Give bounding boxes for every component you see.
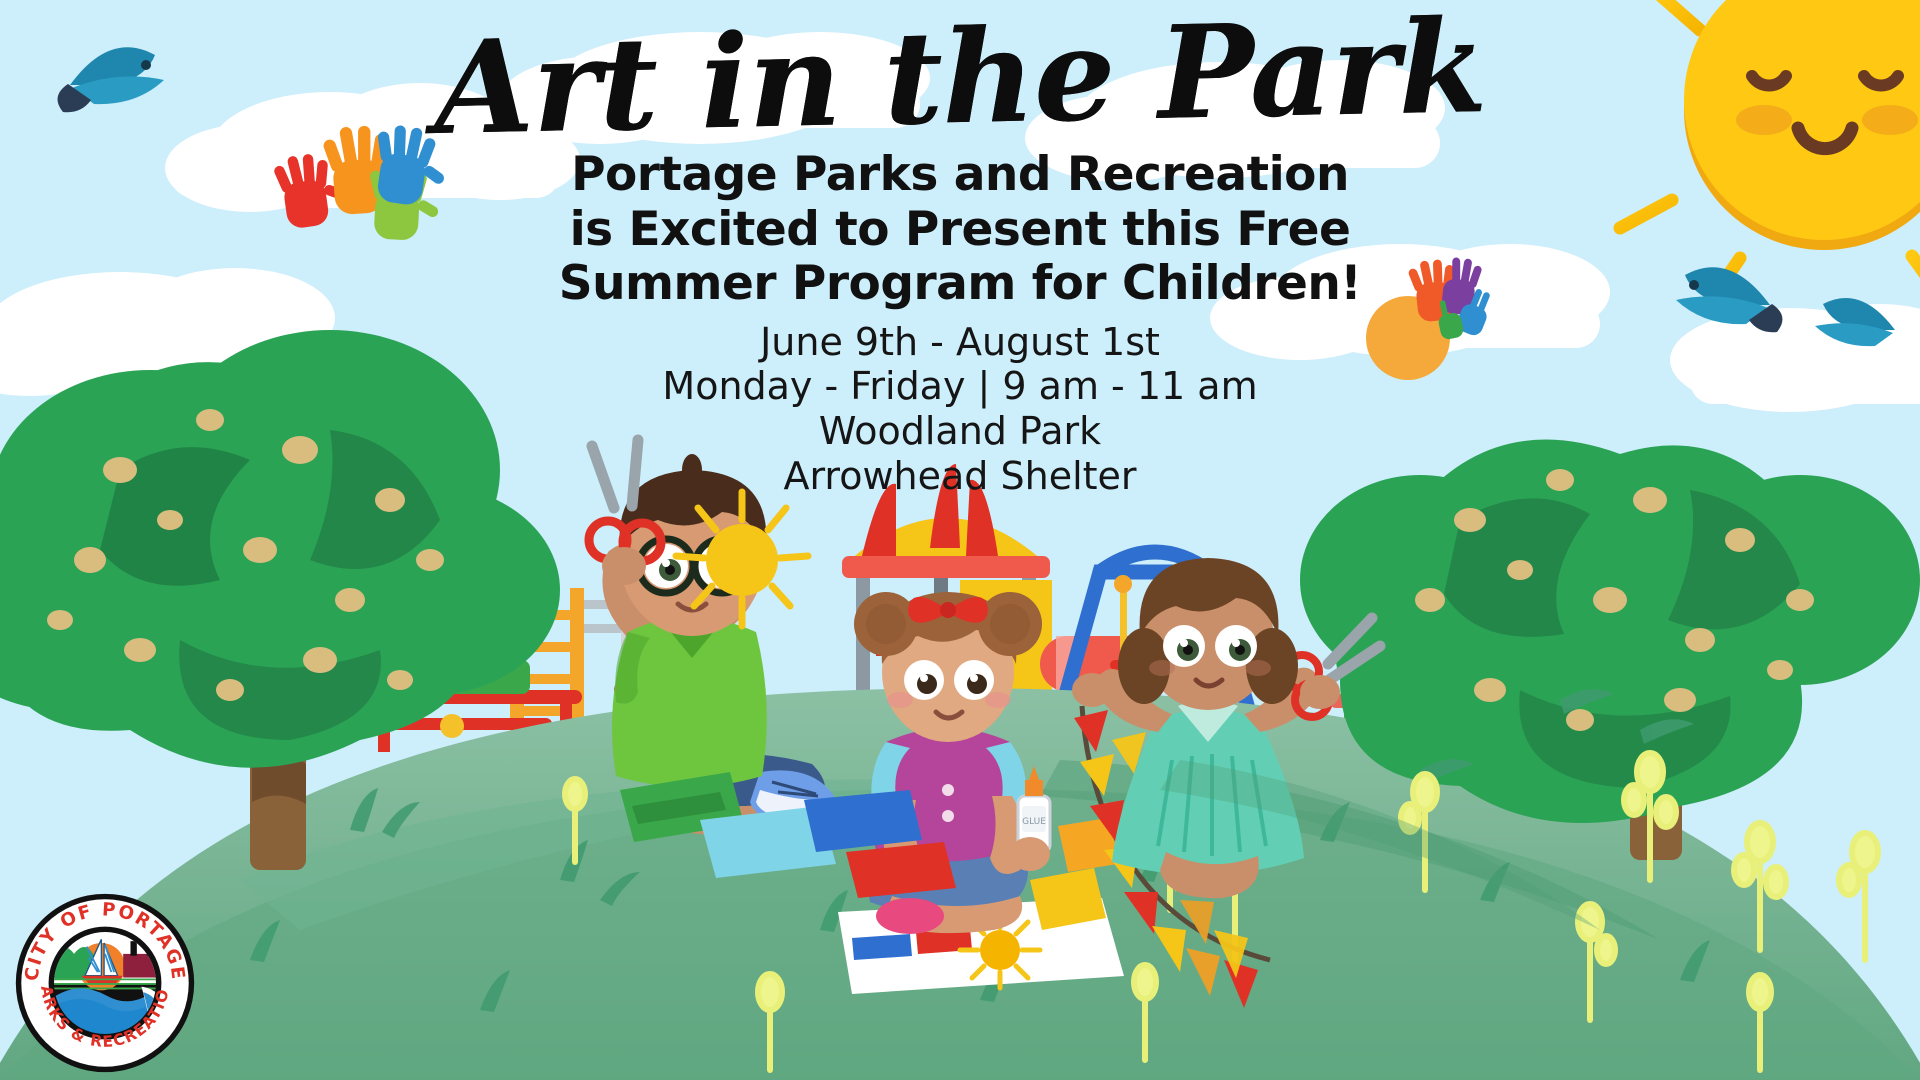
boy-hand-left — [602, 547, 646, 585]
sun-cheek-left — [1736, 105, 1792, 135]
city-of-portage-logo: CITY OF PORTAGE PARKS & RECREATION — [14, 892, 196, 1074]
poster-canvas: GLUE — [0, 0, 1920, 1080]
scene-illustration: GLUE — [0, 0, 1920, 1080]
sun-cheek-right — [1862, 105, 1918, 135]
svg-text:GLUE: GLUE — [1022, 817, 1046, 827]
girl-shoe — [876, 898, 944, 934]
logo-svg: CITY OF PORTAGE PARKS & RECREATION — [14, 892, 196, 1074]
